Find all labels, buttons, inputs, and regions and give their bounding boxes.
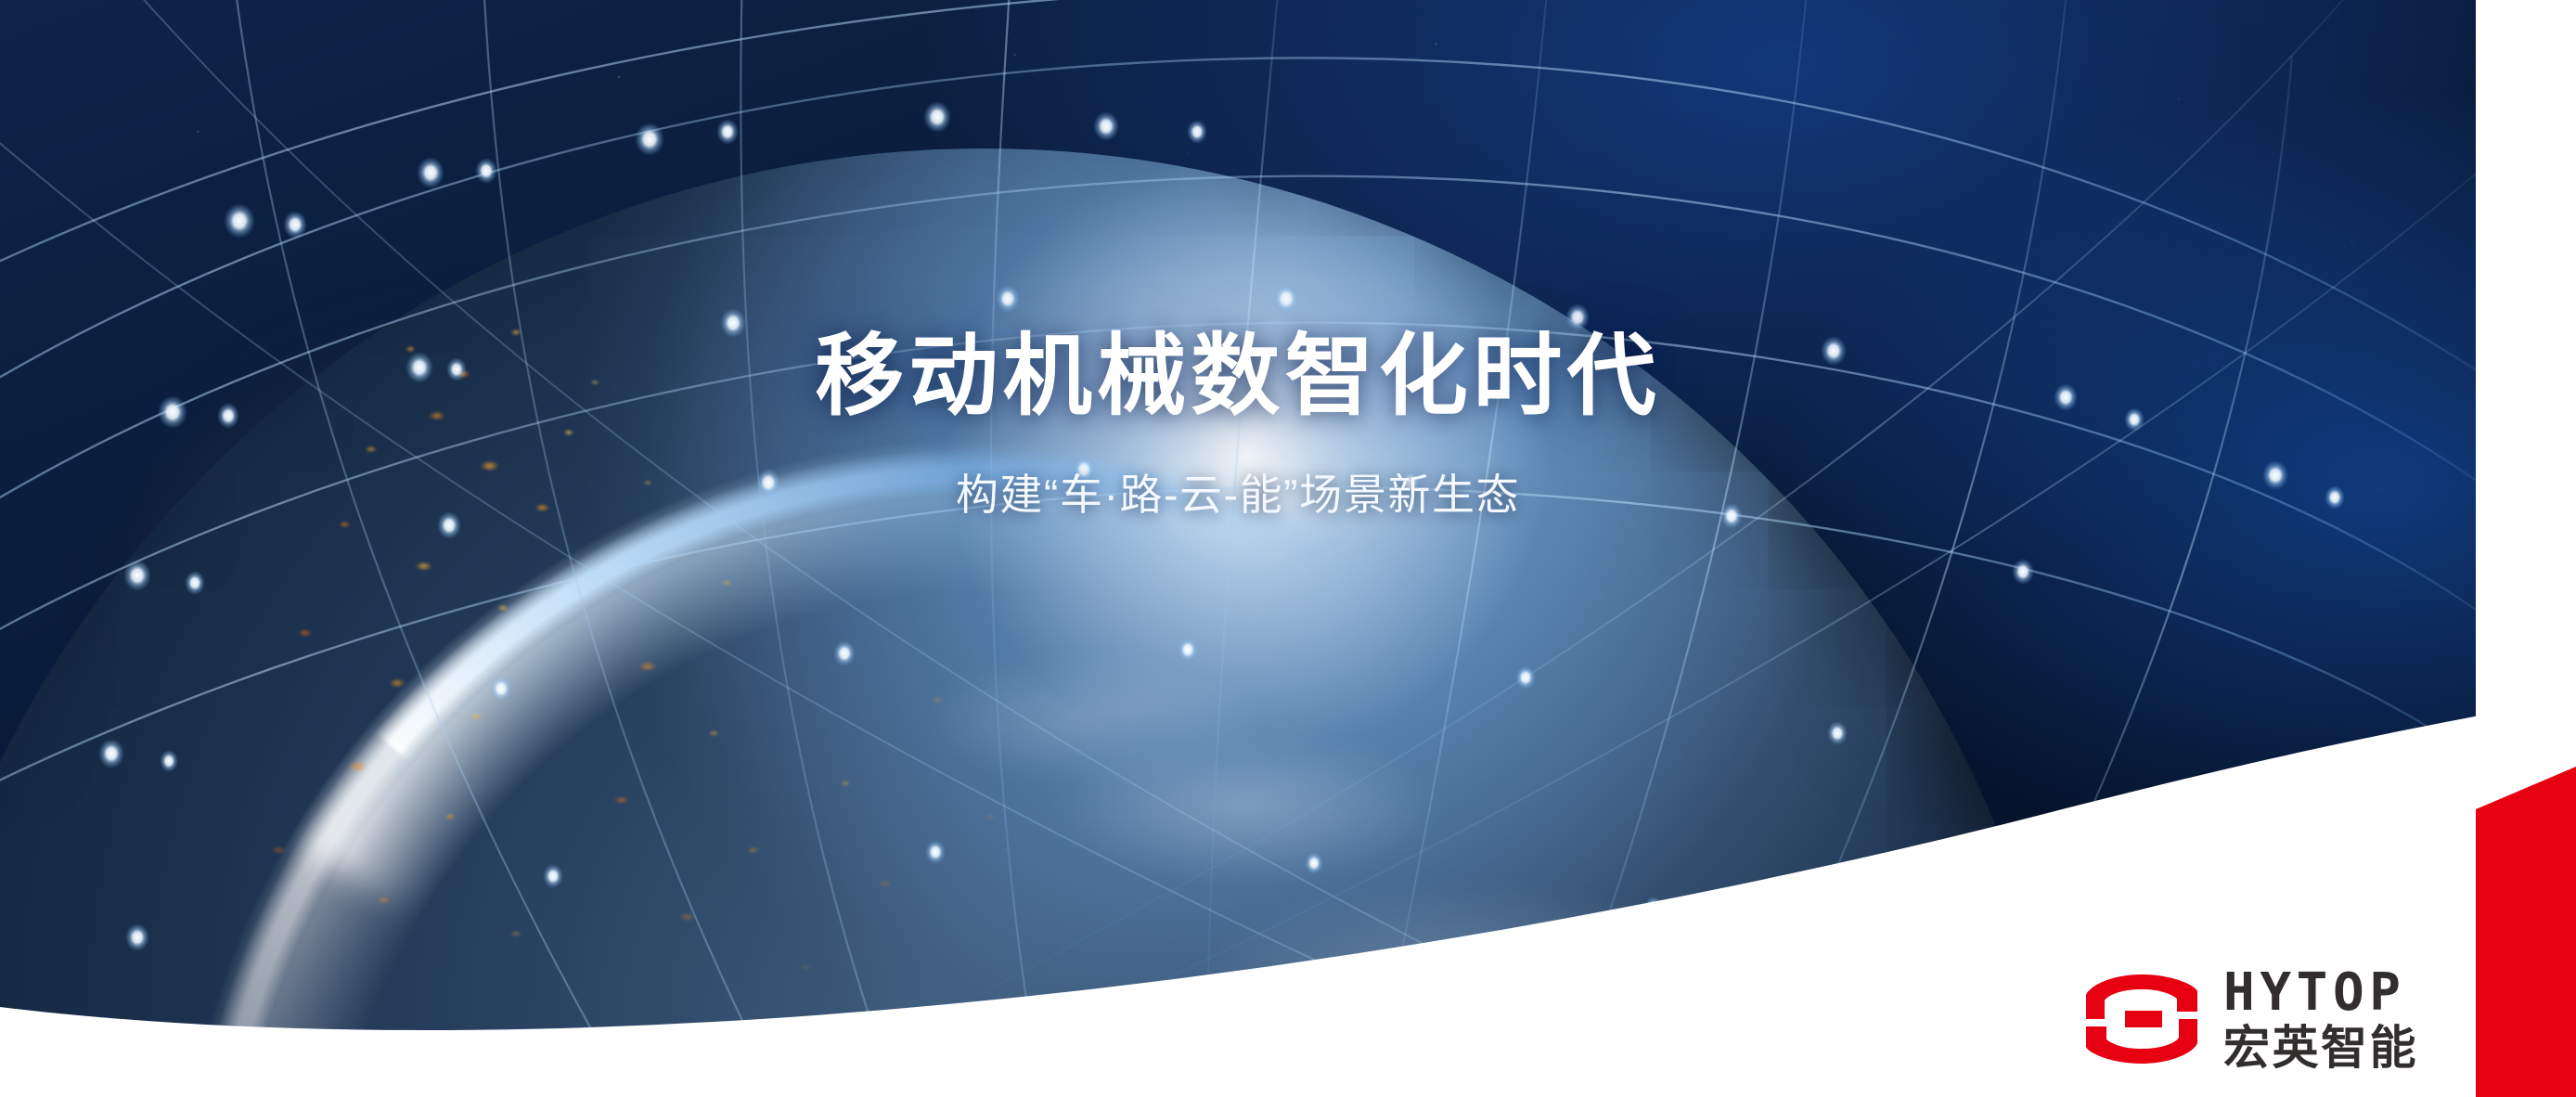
network-nodes <box>98 101 2345 951</box>
network-mesh <box>0 0 2476 1097</box>
brand-logo: HYTOP 宏英智能 <box>2084 967 2418 1071</box>
logo-chinese-text: 宏英智能 <box>2223 1025 2418 1071</box>
title-slide: 移动机械数智化时代 构建“车·路-云-能”场景新生态 HYTOP 宏英智能 <box>0 0 2576 1097</box>
page-subtitle: 构建“车·路-云-能”场景新生态 <box>0 468 2476 523</box>
logo-wordmark: HYTOP 宏英智能 <box>2223 967 2418 1071</box>
page-title: 移动机械数智化时代 <box>0 327 2476 427</box>
title-block: 移动机械数智化时代 构建“车·路-云-能”场景新生态 <box>0 327 2476 523</box>
hytop-s-mark-icon <box>2084 971 2199 1067</box>
logo-latin-text: HYTOP <box>2223 967 2418 1019</box>
background-photo <box>0 0 2476 1097</box>
